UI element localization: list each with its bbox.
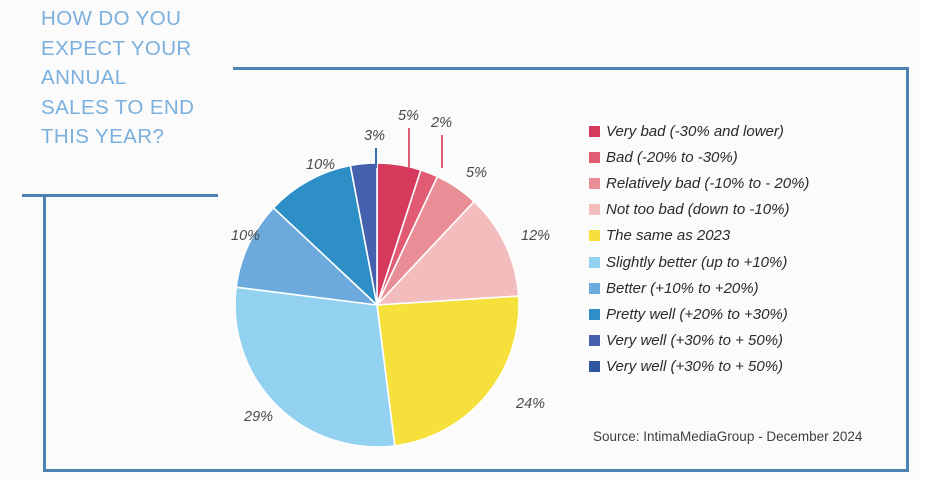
- legend-swatch-icon: [589, 309, 600, 320]
- legend-item[interactable]: Not too bad (down to -10%): [589, 197, 809, 223]
- legend-label: Pretty well (+20% to +30%): [606, 306, 788, 323]
- source-note: Source: IntimaMediaGroup - December 2024: [593, 429, 862, 444]
- legend-swatch-icon: [589, 335, 600, 346]
- legend-swatch-icon: [589, 283, 600, 294]
- legend-swatch-icon: [589, 204, 600, 215]
- pie-label-not-too-bad: 12%: [521, 228, 550, 244]
- legend-label: The same as 2023: [606, 227, 730, 244]
- pie-label-pretty-well: 10%: [306, 157, 335, 173]
- legend-label: Better (+10% to +20%): [606, 280, 759, 297]
- legend-item[interactable]: Pretty well (+20% to +30%): [589, 301, 809, 327]
- legend-swatch-icon: [589, 178, 600, 189]
- legend-item[interactable]: Relatively bad (-10% to - 20%): [589, 170, 809, 196]
- pie-label-better: 10%: [231, 228, 260, 244]
- legend-item[interactable]: Slightly better (up to +10%): [589, 249, 809, 275]
- pie-slice-group: [235, 163, 519, 447]
- pie-label-very-bad: 5%: [398, 108, 419, 124]
- pie-chart: [232, 160, 522, 450]
- leader-line-bad: [441, 135, 443, 168]
- chart-legend: Very bad (-30% and lower)Bad (-20% to -3…: [589, 118, 809, 380]
- legend-label: Relatively bad (-10% to - 20%): [606, 175, 809, 192]
- frame-line-left: [43, 195, 46, 471]
- legend-swatch-icon: [589, 361, 600, 372]
- legend-label: Bad (-20% to -30%): [606, 149, 738, 166]
- legend-item[interactable]: Better (+10% to +20%): [589, 275, 809, 301]
- legend-label: Very well (+30% to + 50%): [606, 358, 783, 375]
- leader-line-very-bad: [408, 128, 410, 168]
- frame-line-top: [233, 67, 909, 70]
- legend-item[interactable]: Very bad (-30% and lower): [589, 118, 809, 144]
- pie-label-bad: 2%: [431, 115, 452, 131]
- legend-item[interactable]: Bad (-20% to -30%): [589, 144, 809, 170]
- pie-label-same-as-2023: 24%: [516, 396, 545, 412]
- legend-label: Slightly better (up to +10%): [606, 254, 787, 271]
- slide-canvas: HOW DO YOU EXPECT YOUR ANNUAL SALES TO E…: [0, 0, 945, 480]
- frame-divider-left: [22, 194, 218, 197]
- pie-label-very-well: 3%: [364, 128, 385, 144]
- legend-label: Not too bad (down to -10%): [606, 201, 789, 218]
- legend-item[interactable]: The same as 2023: [589, 223, 809, 249]
- legend-swatch-icon: [589, 152, 600, 163]
- legend-swatch-icon: [589, 230, 600, 241]
- legend-swatch-icon: [589, 257, 600, 268]
- leader-line-very-well: [375, 148, 377, 168]
- frame-line-right: [906, 67, 909, 471]
- legend-label: Very well (+30% to + 50%): [606, 332, 783, 349]
- legend-label: Very bad (-30% and lower): [606, 123, 784, 140]
- frame-line-bottom: [43, 469, 909, 472]
- legend-item[interactable]: Very well (+30% to + 50%): [589, 328, 809, 354]
- pie-slice[interactable]: [377, 296, 519, 446]
- page-title: HOW DO YOU EXPECT YOUR ANNUAL SALES TO E…: [41, 4, 241, 152]
- pie-chart-svg: [232, 160, 522, 450]
- legend-swatch-icon: [589, 126, 600, 137]
- pie-label-slightly-better: 29%: [244, 409, 273, 425]
- pie-label-relatively-bad: 5%: [466, 165, 487, 181]
- legend-item[interactable]: Very well (+30% to + 50%): [589, 354, 809, 380]
